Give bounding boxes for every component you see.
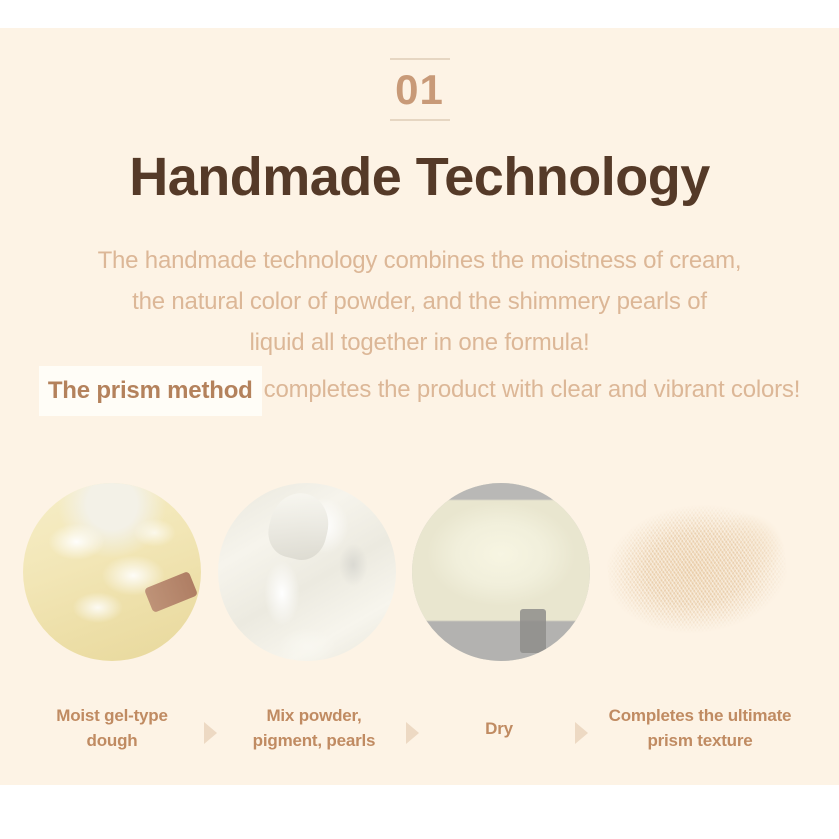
step-caption-1-line-1: Moist gel-type xyxy=(22,703,202,728)
process-steps-captions: Moist gel-type dough Mix powder, pigment… xyxy=(0,683,839,763)
body-line-1: The handmade technology combines the moi… xyxy=(0,240,839,281)
highlight-rest-text: completes the product with clear and vib… xyxy=(264,376,801,403)
step-caption-3-line-1: Dry xyxy=(424,716,574,741)
step-caption-1: Moist gel-type dough xyxy=(22,703,202,753)
drying-pan-photo xyxy=(412,483,590,661)
number-rule-bottom xyxy=(390,119,450,121)
body-line-2: the natural color of powder, and the shi… xyxy=(0,281,839,322)
step-caption-2-line-2: pigment, pearls xyxy=(228,728,400,753)
page-title: Handmade Technology xyxy=(0,146,839,208)
step-caption-2: Mix powder, pigment, pearls xyxy=(228,703,400,753)
section-number: 01 xyxy=(0,67,839,113)
step-image-3 xyxy=(412,483,590,661)
promo-panel: 01 Handmade Technology The handmade tech… xyxy=(0,28,839,785)
body-copy: The handmade technology combines the moi… xyxy=(0,240,839,415)
step-image-1 xyxy=(23,483,201,661)
moist-gel-dough-photo xyxy=(23,483,201,661)
body-line-4: The prism methodcompletes the product wi… xyxy=(0,365,839,415)
number-rule-top xyxy=(390,58,450,60)
step-arrow-icon-1 xyxy=(204,722,217,744)
body-line-3: liquid all together in one formula! xyxy=(0,322,839,363)
page-root: 01 Handmade Technology The handmade tech… xyxy=(0,0,839,839)
step-image-4 xyxy=(600,489,796,659)
step-caption-3: Dry xyxy=(424,716,574,741)
step-arrow-icon-2 xyxy=(406,722,419,744)
section-number-block: 01 xyxy=(0,58,839,121)
whipped-cream-mixing-photo xyxy=(218,483,396,661)
step-arrow-icon-3 xyxy=(575,722,588,744)
prism-powder-swatch xyxy=(602,494,793,644)
prism-method-highlight: The prism method xyxy=(39,366,262,416)
step-caption-1-line-2: dough xyxy=(22,728,202,753)
step-caption-4: Completes the ultimate prism texture xyxy=(596,703,804,753)
step-caption-4-line-2: prism texture xyxy=(596,728,804,753)
step-caption-4-line-1: Completes the ultimate xyxy=(596,703,804,728)
step-image-2 xyxy=(218,483,396,661)
step-caption-2-line-1: Mix powder, xyxy=(228,703,400,728)
